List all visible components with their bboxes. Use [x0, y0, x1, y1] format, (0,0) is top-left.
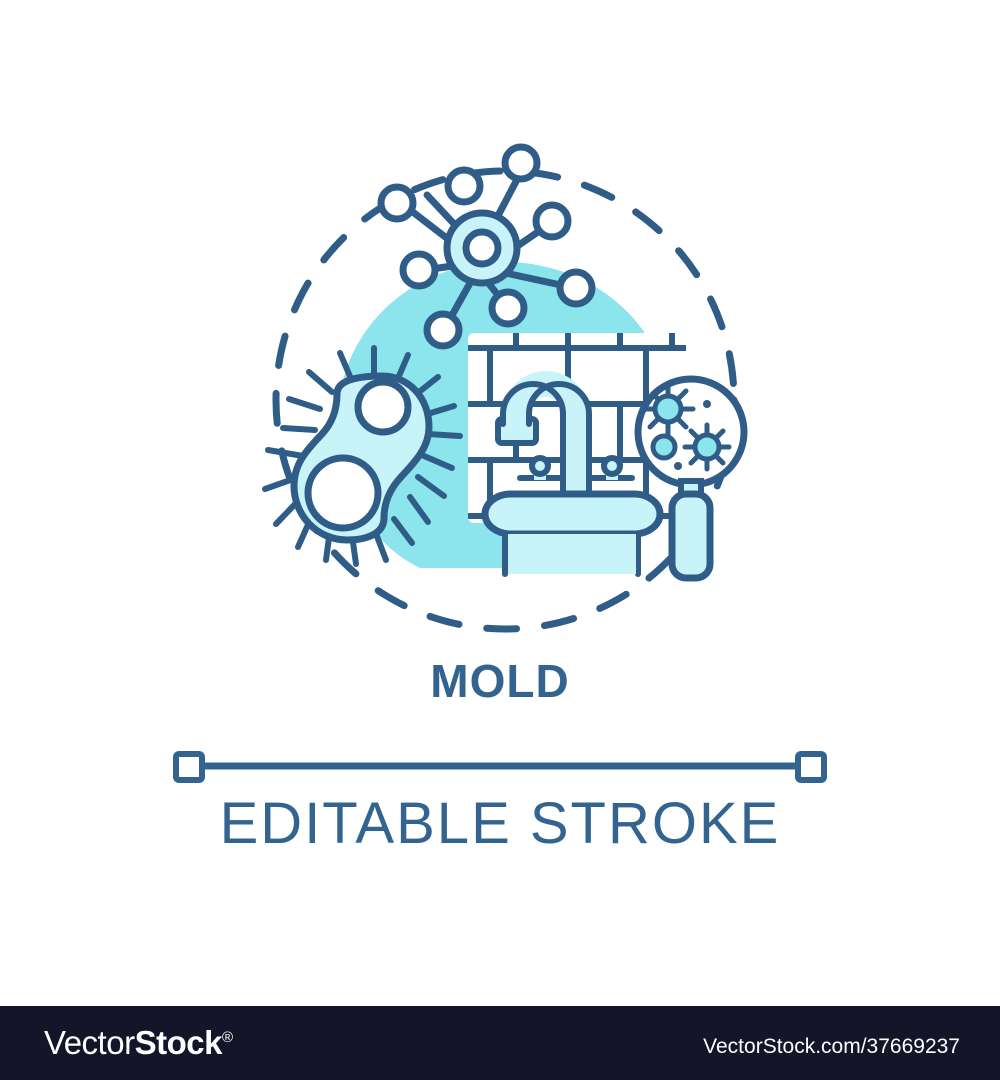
watermark-url: VectorStock.com/37669237 — [703, 1036, 960, 1057]
spore-node — [381, 187, 413, 219]
stroke-handle-left[interactable] — [176, 754, 202, 780]
spore-core-inner — [466, 232, 498, 264]
vectorstock-logo: VectorStock® — [44, 1026, 233, 1059]
sink-basin — [485, 494, 660, 574]
stroke-indicator — [170, 748, 830, 784]
spore-node — [403, 254, 435, 286]
editable-stroke-label: EDITABLE STROKE — [0, 795, 1000, 853]
spore-node — [560, 272, 592, 304]
screenshot-canvas: MOLD EDITABLE STROKE VectorStock® Vector… — [0, 0, 1000, 1080]
stroke-handle-right[interactable] — [798, 754, 824, 780]
spore-node — [505, 147, 537, 179]
spore-node — [492, 292, 524, 324]
registered-mark-icon: ® — [222, 1029, 233, 1046]
page-title: MOLD — [0, 658, 1000, 704]
watermark-footer: VectorStock® VectorStock.com/37669237 — [0, 1006, 1000, 1080]
spore-node — [536, 205, 568, 237]
logo-thin-part: Vector — [44, 1024, 135, 1061]
mold-concept-illustration — [0, 0, 1000, 660]
spore-node — [448, 170, 480, 202]
logo-bold-part: Stock — [135, 1024, 222, 1061]
spore-node — [427, 314, 459, 346]
